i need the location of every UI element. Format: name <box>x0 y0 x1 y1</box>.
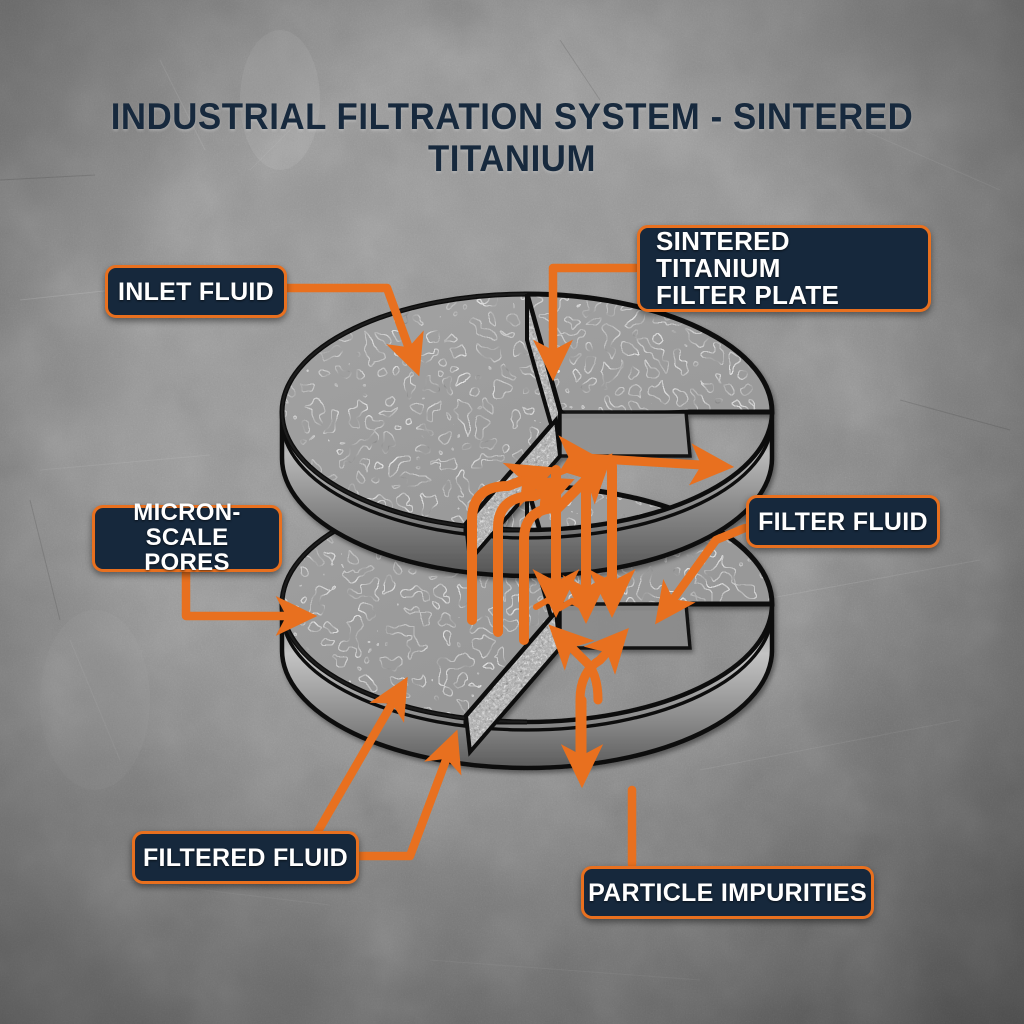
cross-flow-arrow <box>585 458 718 466</box>
callout-text-pores-line1: MICRON-SCALE <box>103 501 271 551</box>
callout-text-particle-impurities: PARTICLE IMPURITIES <box>584 880 871 906</box>
callout-label-particle-impurities[interactable]: PARTICLE IMPURITIES <box>581 866 874 919</box>
callout-label-filter-fluid[interactable]: FILTER FLUID <box>746 495 940 548</box>
callout-text-pores-line2: PORES <box>103 551 271 576</box>
page-title: INDUSTRIAL FILTRATION SYSTEM - SINTERED … <box>31 96 994 180</box>
diagram-canvas: INDUSTRIAL FILTRATION SYSTEM - SINTERED … <box>0 0 1024 1024</box>
callout-label-filtered-fluid[interactable]: FILTERED FLUID <box>132 831 359 884</box>
callout-label-inlet-fluid[interactable]: INLET FLUID <box>105 265 287 318</box>
callout-text-filter-fluid: FILTER FLUID <box>749 509 937 535</box>
callout-text-filtered-fluid: FILTERED FLUID <box>135 845 356 871</box>
callout-text-inlet-fluid: INLET FLUID <box>108 279 284 305</box>
callout-text-plate-line2: FILTER PLATE <box>656 282 912 309</box>
callout-label-sintered-titanium-filter-plate[interactable]: SINTERED TITANIUM FILTER PLATE <box>637 225 931 312</box>
callout-label-micron-scale-pores[interactable]: MICRON-SCALE PORES <box>92 505 282 572</box>
callout-text-plate-line1: SINTERED TITANIUM <box>656 228 912 282</box>
